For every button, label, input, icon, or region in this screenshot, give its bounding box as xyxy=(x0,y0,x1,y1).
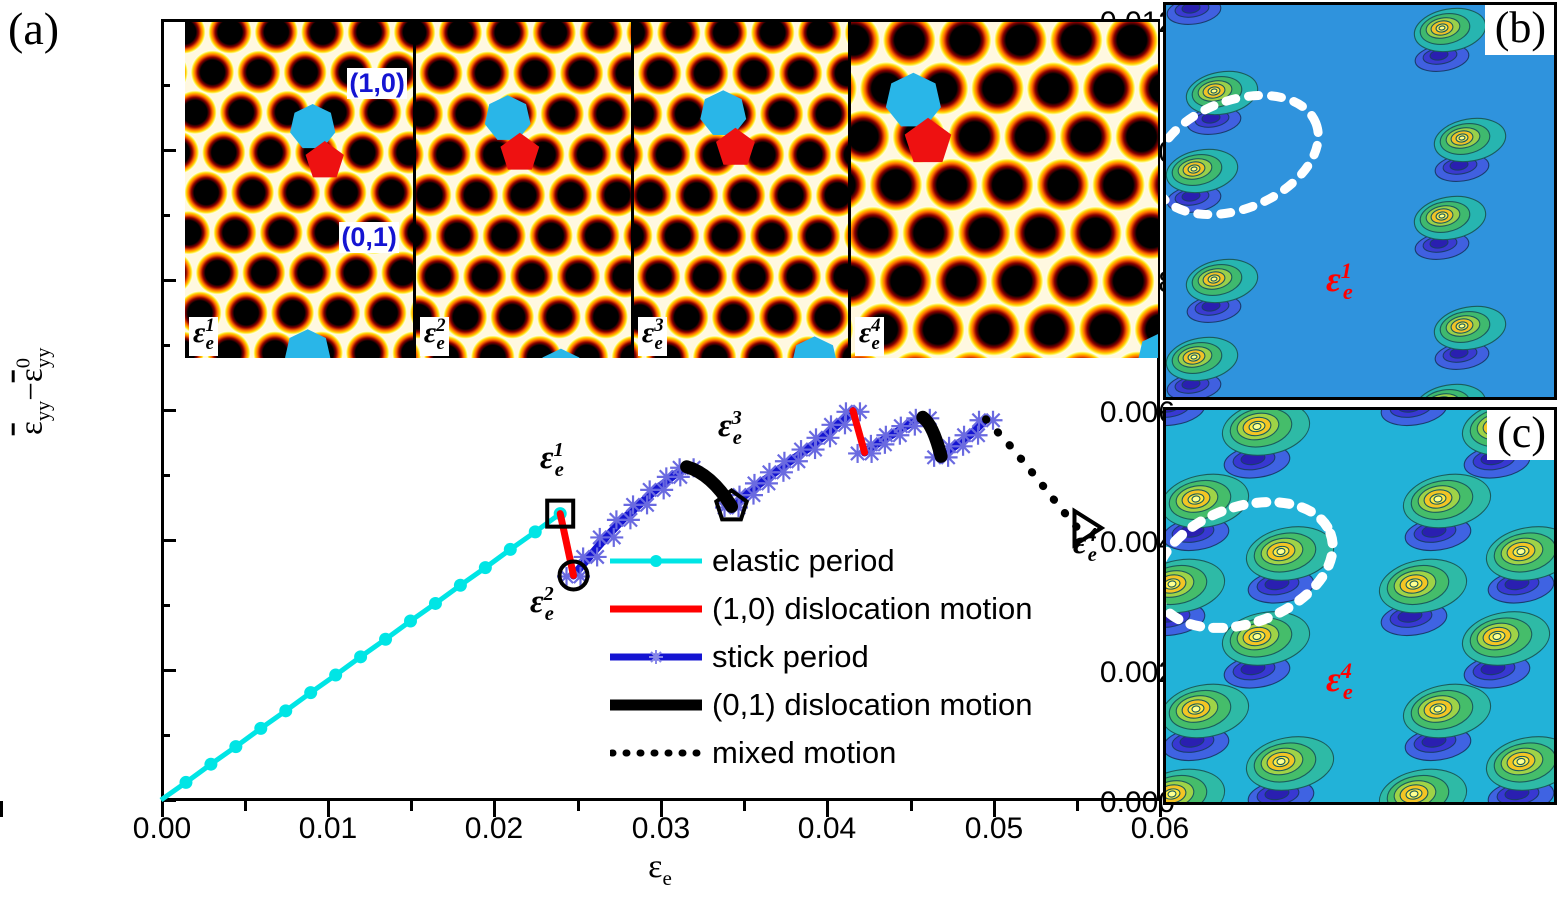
legend-label-elastic-period: elastic period xyxy=(712,543,895,579)
legend-label-dislocation-10: (1,0) dislocation motion xyxy=(712,591,1033,627)
legend-key-elastic-period xyxy=(610,551,702,571)
panel-c-label: (c) xyxy=(1487,410,1554,460)
contour-field-c xyxy=(1166,410,1554,802)
legend: elastic period (1,0) dislocation motion … xyxy=(610,537,1190,777)
legend-item-dislocation-10: (1,0) dislocation motion xyxy=(610,585,1190,633)
legend-item-stick-period: stick period xyxy=(610,633,1190,681)
legend-key-dislocation-10 xyxy=(610,599,702,619)
legend-item-elastic-period: elastic period xyxy=(610,537,1190,585)
legend-item-dislocation-01: (0,1) dislocation motion xyxy=(610,681,1190,729)
legend-label-stick-period: stick period xyxy=(712,639,869,675)
legend-label-dislocation-01: (0,1) dislocation motion xyxy=(712,687,1033,723)
contour-field-b xyxy=(1166,5,1554,397)
annotation-eps-e-1: ε1e xyxy=(540,440,564,480)
panel-b-eps-label: ε1e xyxy=(1326,260,1353,304)
panel-b-label: (b) xyxy=(1485,5,1554,55)
legend-key-dislocation-01 xyxy=(610,695,702,715)
legend-label-mixed-motion: mixed motion xyxy=(712,735,896,771)
annotation-eps-e-3: ε3e xyxy=(718,408,742,448)
legend-key-stick-period xyxy=(610,647,702,667)
legend-item-mixed-motion: mixed motion xyxy=(610,729,1190,777)
panel-c-contour-map: (c) ε4e xyxy=(1163,407,1557,805)
legend-key-mixed-motion xyxy=(610,743,702,763)
annotation-eps-e-2: ε2e xyxy=(530,584,554,624)
panel-a-main-plot: (a) εyy−ε0yy 0.012 0.010 0.008 0.006 0.0… xyxy=(0,0,1175,909)
panel-b-contour-map: (b) ε1e xyxy=(1163,2,1557,400)
panel-c-eps-label: ε4e xyxy=(1326,660,1353,704)
